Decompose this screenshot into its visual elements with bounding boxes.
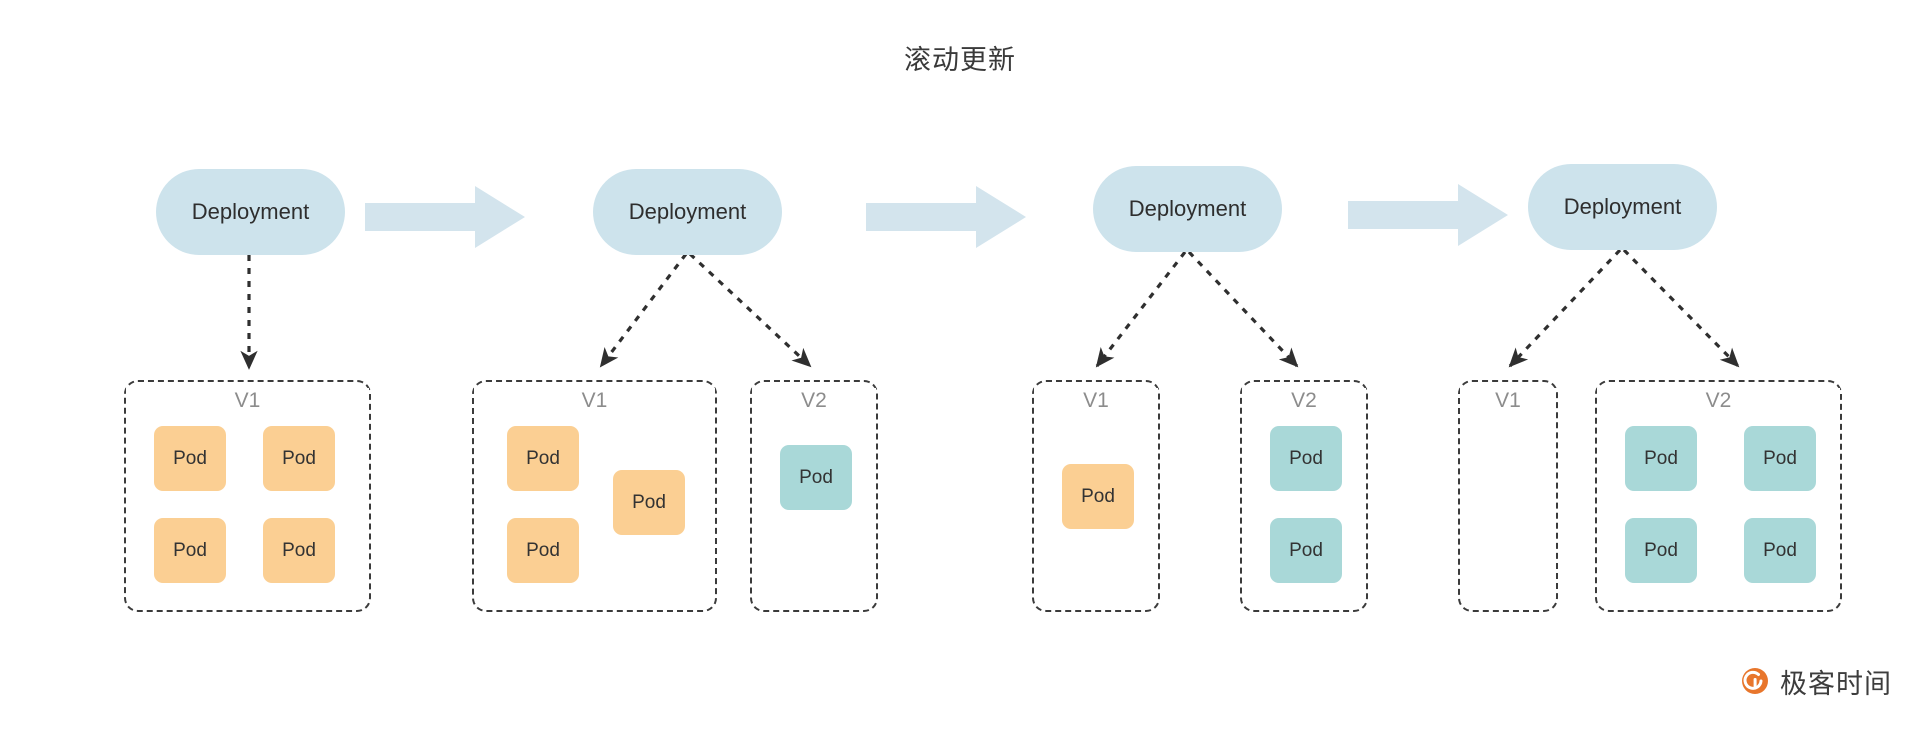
pod-node[interactable]: Pod (1744, 426, 1816, 491)
pod-node[interactable]: Pod (507, 518, 579, 583)
pod-node[interactable]: Pod (1270, 518, 1342, 583)
pod-label: Pod (799, 467, 833, 489)
version-label: V1 (126, 388, 369, 414)
connector-layer (0, 0, 1920, 729)
version-label: V1 (1460, 388, 1556, 414)
deployment-label: Deployment (1564, 194, 1681, 220)
version-group-stage-3-v2[interactable]: V2 Pod Pod (1240, 380, 1368, 612)
deployment-node-stage-1[interactable]: Deployment (156, 169, 345, 255)
brand-logo: 极客时间 (1739, 662, 1892, 701)
version-group-stage-2-v1[interactable]: V1 Pod Pod Pod (472, 380, 717, 612)
pod-label: Pod (526, 448, 560, 470)
pod-node[interactable]: Pod (1270, 426, 1342, 491)
version-label: V2 (1242, 388, 1366, 414)
deployment-label: Deployment (629, 199, 746, 225)
deployment-label: Deployment (1129, 196, 1246, 222)
version-group-stage-1-v1[interactable]: V1 Pod Pod Pod Pod (124, 380, 371, 612)
pod-node[interactable]: Pod (1062, 464, 1134, 529)
pod-node[interactable]: Pod (154, 426, 226, 491)
diagram-canvas: 滚动更新 Deployment V1 Pod Pod Pod (0, 0, 1920, 729)
pod-node[interactable]: Pod (507, 426, 579, 491)
connector-stage-3-v1 (1097, 252, 1185, 366)
pod-label: Pod (1763, 448, 1797, 470)
pod-node[interactable]: Pod (1625, 426, 1697, 491)
pod-node[interactable]: Pod (263, 426, 335, 491)
pod-node[interactable]: Pod (1744, 518, 1816, 583)
pod-label: Pod (1289, 540, 1323, 562)
stage-transition-arrow (1348, 184, 1508, 246)
pod-node[interactable]: Pod (154, 518, 226, 583)
pod-label: Pod (173, 540, 207, 562)
deployment-node-stage-2[interactable]: Deployment (593, 169, 782, 255)
version-group-stage-4-v2[interactable]: V2 Pod Pod Pod Pod (1595, 380, 1842, 612)
pod-label: Pod (173, 448, 207, 470)
pod-node[interactable]: Pod (613, 470, 685, 535)
version-group-stage-2-v2[interactable]: V2 Pod (750, 380, 878, 612)
version-group-stage-4-v1[interactable]: V1 (1458, 380, 1558, 612)
page-title: 滚动更新 (0, 38, 1920, 77)
pod-label: Pod (632, 492, 666, 514)
stage-transition-arrow (866, 186, 1026, 248)
pod-label: Pod (1289, 448, 1323, 470)
connector-stage-2-v2 (690, 254, 810, 366)
pod-node[interactable]: Pod (780, 445, 852, 510)
pod-node[interactable]: Pod (1625, 518, 1697, 583)
pod-label: Pod (1081, 486, 1115, 508)
pod-label: Pod (526, 540, 560, 562)
pod-label: Pod (1644, 448, 1678, 470)
connector-stage-2-v1 (601, 254, 686, 366)
brand-name: 极客时间 (1780, 662, 1892, 701)
version-label: V1 (1034, 388, 1158, 414)
pod-label: Pod (282, 540, 316, 562)
stage-transition-arrow (365, 186, 525, 248)
connector-stage-4-v1 (1510, 250, 1620, 366)
version-label: V1 (474, 388, 715, 414)
version-label: V2 (1597, 388, 1840, 414)
version-group-stage-3-v1[interactable]: V1 Pod (1032, 380, 1160, 612)
pod-label: Pod (1644, 540, 1678, 562)
pod-label: Pod (1763, 540, 1797, 562)
version-label: V2 (752, 388, 876, 414)
connector-stage-3-v2 (1189, 252, 1297, 366)
deployment-node-stage-4[interactable]: Deployment (1528, 164, 1717, 250)
pod-node[interactable]: Pod (263, 518, 335, 583)
connector-stage-4-v2 (1624, 250, 1738, 366)
geektime-logo-icon (1739, 666, 1771, 698)
pod-label: Pod (282, 448, 316, 470)
deployment-label: Deployment (192, 199, 309, 225)
deployment-node-stage-3[interactable]: Deployment (1093, 166, 1282, 252)
